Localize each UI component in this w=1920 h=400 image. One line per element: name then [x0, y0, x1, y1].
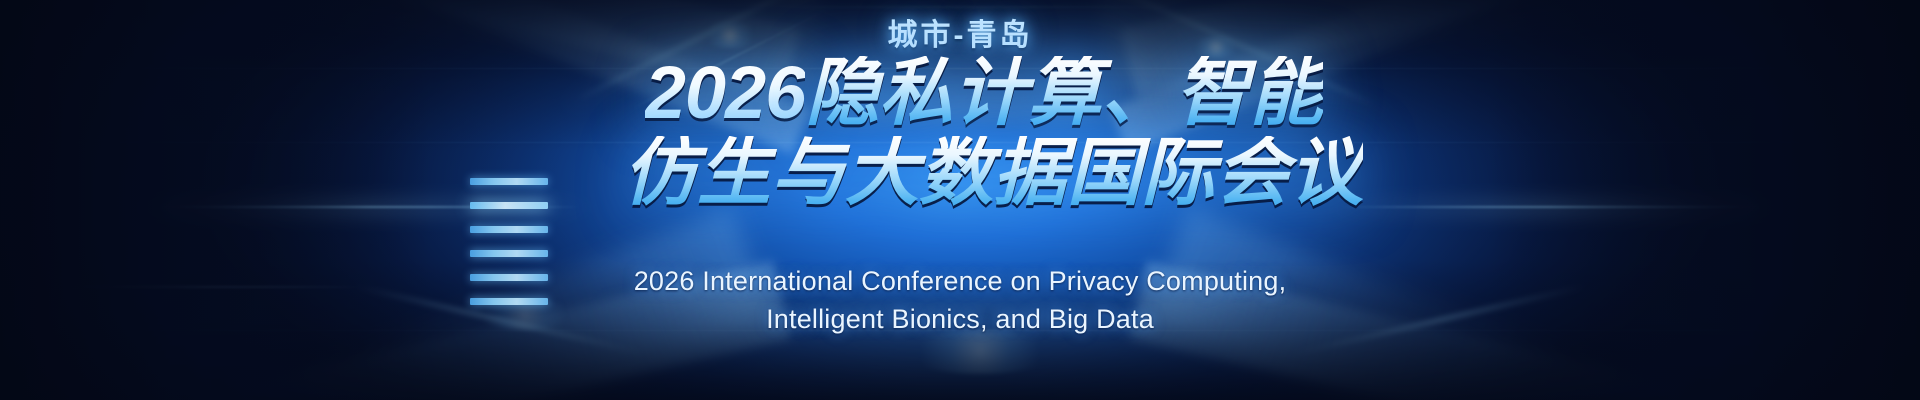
title-line-1: 2026隐私计算、智能	[48, 56, 1920, 130]
main-title: 2026隐私计算、智能 仿生与大数据国际会议	[0, 56, 1920, 210]
english-subtitle: 2026 International Conference on Privacy…	[0, 262, 1920, 339]
title-line-2-cn: 仿生与大数据国际会议	[623, 136, 1363, 210]
decorative-bar	[470, 250, 548, 257]
subtitle-line-1: 2026 International Conference on Privacy…	[0, 262, 1920, 300]
city-label: 城市-青岛	[0, 10, 1920, 54]
title-year: 2026	[645, 56, 806, 130]
decorative-bar	[470, 226, 548, 233]
banner-content: 城市-青岛 2026隐私计算、智能 仿生与大数据国际会议 2026 Intern…	[0, 0, 1920, 400]
title-line-1-cn: 隐私计算、智能	[805, 56, 1323, 130]
subtitle-line-2: Intelligent Bionics, and Big Data	[0, 300, 1920, 338]
conference-banner: 城市-青岛 2026隐私计算、智能 仿生与大数据国际会议 2026 Intern…	[0, 0, 1920, 400]
title-line-2: 仿生与大数据国际会议	[66, 136, 1920, 210]
